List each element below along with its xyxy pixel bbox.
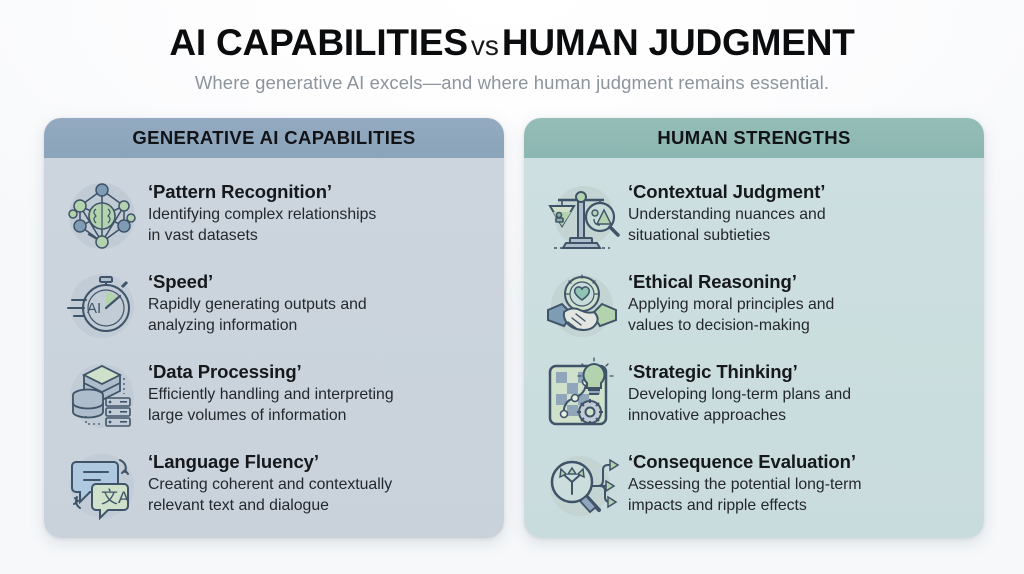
list-item-title: ‘Speed’ — [148, 271, 367, 292]
list-item-description: Applying moral principles and values to … — [628, 295, 834, 336]
panel-generative-ai-capabilities: GENERATIVE AI CAPABILITIES — [44, 118, 504, 538]
balance-scales-magnifier-icon — [540, 174, 624, 258]
list-item-title: ‘Strategic Thinking’ — [628, 361, 851, 382]
magnifier-branching-arrows-icon — [540, 444, 624, 528]
list-item: AI ‘Speed’ Rapidly generating outputs an… — [60, 262, 486, 352]
list-item: ‘Strategic Thinking’ Developing long-ter… — [540, 352, 966, 442]
handshake-heart-icon — [540, 264, 624, 348]
list-item-text: ‘Contextual Judgment’ Understanding nuan… — [624, 172, 826, 246]
list-item-title: ‘Consequence Evaluation’ — [628, 451, 862, 472]
panel-body-human-strengths: ‘Contextual Judgment’ Understanding nuan… — [524, 158, 984, 538]
list-item-text: ‘Pattern Recognition’ Identifying comple… — [144, 172, 376, 246]
list-item-title: ‘Contextual Judgment’ — [628, 181, 826, 202]
title-right-part: HUMAN JUDGMENT — [502, 22, 855, 63]
list-item-text: ‘Speed’ Rapidly generating outputs and a… — [144, 262, 367, 336]
list-item-text: ‘Consequence Evaluation’ Assessing the p… — [624, 442, 862, 516]
infographic-canvas: AI CAPABILITIESvsHUMAN JUDGMENT Where ge… — [0, 0, 1024, 574]
list-item: ‘Data Processing’ Efficiently handling a… — [60, 352, 486, 442]
svg-text:文A: 文A — [101, 488, 130, 507]
list-item: ‘Pattern Recognition’ Identifying comple… — [60, 172, 486, 262]
neural-network-brain-icon — [60, 174, 144, 258]
list-item-text: ‘Ethical Reasoning’ Applying moral princ… — [624, 262, 834, 336]
database-server-stack-icon — [60, 354, 144, 438]
list-item: ‘Ethical Reasoning’ Applying moral princ… — [540, 262, 966, 352]
list-item-description: Rapidly generating outputs and analyzing… — [148, 295, 367, 336]
list-item-description: Assessing the potential long-term impact… — [628, 475, 862, 516]
list-item-description: Identifying complex relationships in vas… — [148, 205, 376, 246]
stopwatch-ai-speed-icon: AI — [60, 264, 144, 348]
list-item: ‘Consequence Evaluation’ Assessing the p… — [540, 442, 966, 532]
title-vs-separator: vs — [468, 30, 502, 61]
panel-heading-human-strengths: HUMAN STRENGTHS — [524, 118, 984, 158]
page-title: AI CAPABILITIESvsHUMAN JUDGMENT — [0, 24, 1024, 63]
list-item-description: Creating coherent and contextually relev… — [148, 475, 392, 516]
speech-bubble-translate-icon: 文A — [60, 444, 144, 528]
panel-heading-generative-ai: GENERATIVE AI CAPABILITIES — [44, 118, 504, 158]
panel-body-generative-ai: ‘Pattern Recognition’ Identifying comple… — [44, 158, 504, 538]
list-item-text: ‘Strategic Thinking’ Developing long-ter… — [624, 352, 851, 426]
list-item-title: ‘Ethical Reasoning’ — [628, 271, 834, 292]
title-left-part: AI CAPABILITIES — [169, 22, 468, 63]
panel-human-strengths: HUMAN STRENGTHS — [524, 118, 984, 538]
list-item: 文A ‘Language Fluency’ Creating coherent … — [60, 442, 486, 532]
svg-text:AI: AI — [87, 300, 101, 317]
comparison-panels: GENERATIVE AI CAPABILITIES — [44, 118, 984, 538]
list-item-title: ‘Pattern Recognition’ — [148, 181, 376, 202]
list-item-text: ‘Language Fluency’ Creating coherent and… — [144, 442, 392, 516]
list-item-title: ‘Data Processing’ — [148, 361, 394, 382]
list-item-description: Efficiently handling and interpreting la… — [148, 385, 394, 426]
page-header: AI CAPABILITIESvsHUMAN JUDGMENT Where ge… — [0, 24, 1024, 94]
list-item-description: Understanding nuances and situational su… — [628, 205, 826, 246]
page-subtitle: Where generative AI excels—and where hum… — [0, 72, 1024, 94]
list-item: ‘Contextual Judgment’ Understanding nuan… — [540, 172, 966, 262]
chessboard-lightbulb-gear-icon — [540, 354, 624, 438]
list-item-title: ‘Language Fluency’ — [148, 451, 392, 472]
list-item-text: ‘Data Processing’ Efficiently handling a… — [144, 352, 394, 426]
list-item-description: Developing long-term plans and innovativ… — [628, 385, 851, 426]
